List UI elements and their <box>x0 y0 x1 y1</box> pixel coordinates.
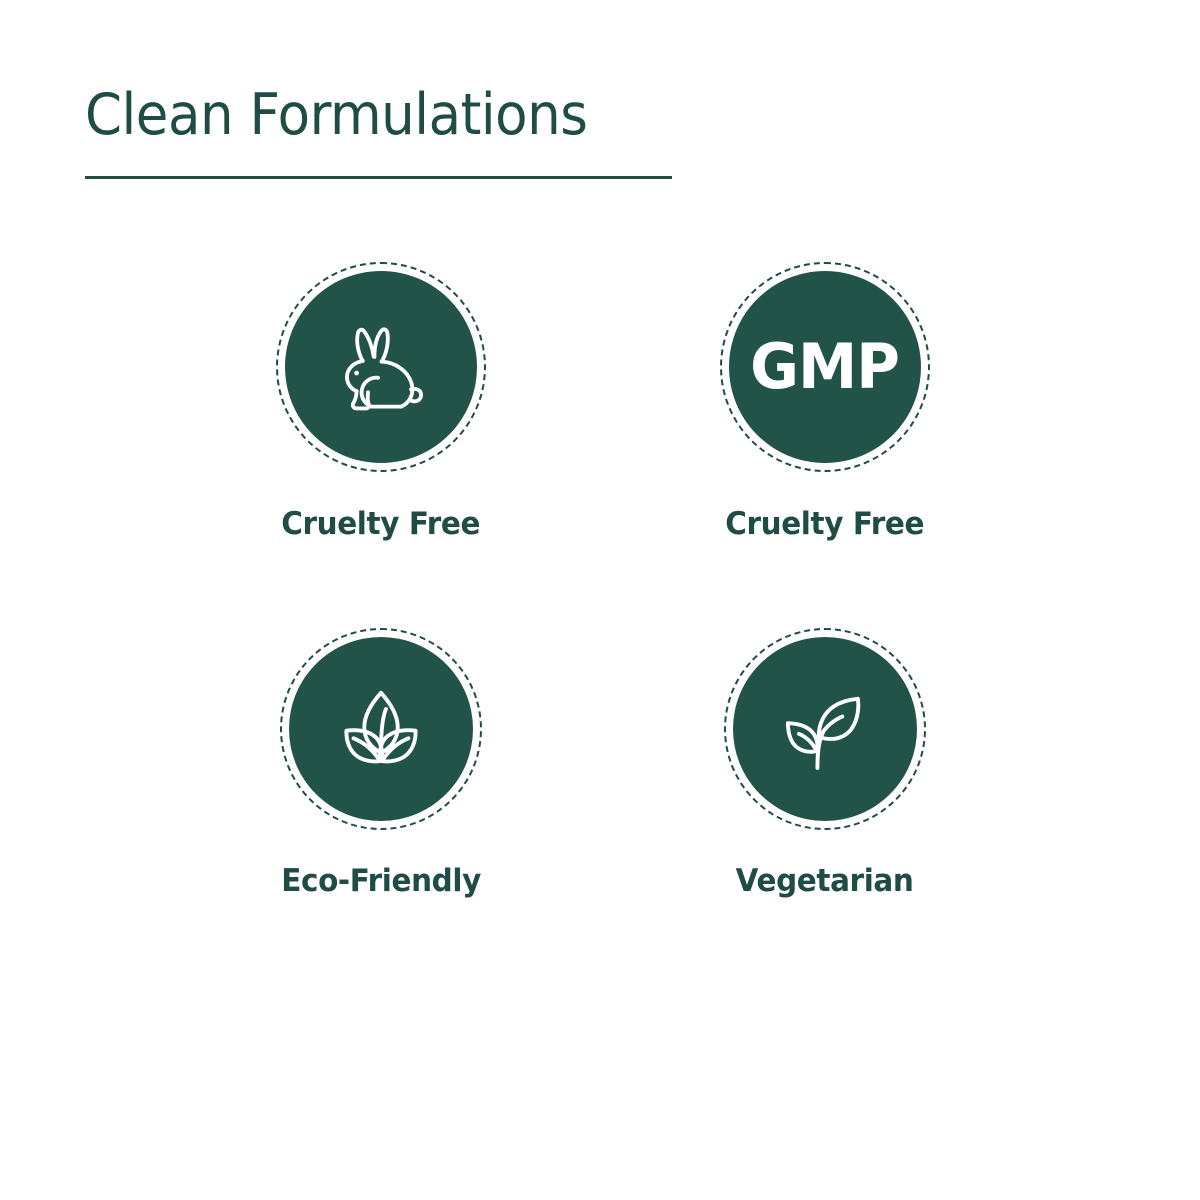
badge-item-eco-friendly[interactable]: Eco-Friendly <box>159 628 603 928</box>
badge-disc: GMP <box>729 271 921 463</box>
rabbit-icon <box>325 311 437 423</box>
badge-medallion <box>724 628 926 830</box>
badge-label: Eco-Friendly <box>281 863 481 899</box>
badge-medallion <box>276 262 486 472</box>
badge-label: Cruelty Free <box>726 506 925 542</box>
badge-label: Cruelty Free <box>282 506 481 542</box>
badge-item-gmp[interactable]: GMP Cruelty Free <box>603 262 1047 628</box>
badge-item-cruelty-free[interactable]: Cruelty Free <box>159 262 603 628</box>
badge-label: Vegetarian <box>736 863 914 899</box>
page-title: Clean Formulations <box>85 86 643 146</box>
gmp-text-icon: GMP <box>751 336 900 398</box>
badge-row: Cruelty Free GMP Cruelty Free <box>0 262 1200 628</box>
title-underline-rule <box>85 176 672 179</box>
badge-row: Eco-Friendly <box>0 628 1200 928</box>
badge-grid: Cruelty Free GMP Cruelty Free <box>0 262 1200 928</box>
badge-disc <box>285 271 477 463</box>
badge-medallion <box>280 628 482 830</box>
sprout-icon <box>771 675 879 783</box>
three-leaves-icon <box>327 675 435 783</box>
badge-disc <box>733 637 917 821</box>
page-header: Clean Formulations <box>85 86 685 146</box>
badge-item-vegetarian[interactable]: Vegetarian <box>603 628 1047 928</box>
badge-medallion: GMP <box>720 262 930 472</box>
badge-disc <box>289 637 473 821</box>
